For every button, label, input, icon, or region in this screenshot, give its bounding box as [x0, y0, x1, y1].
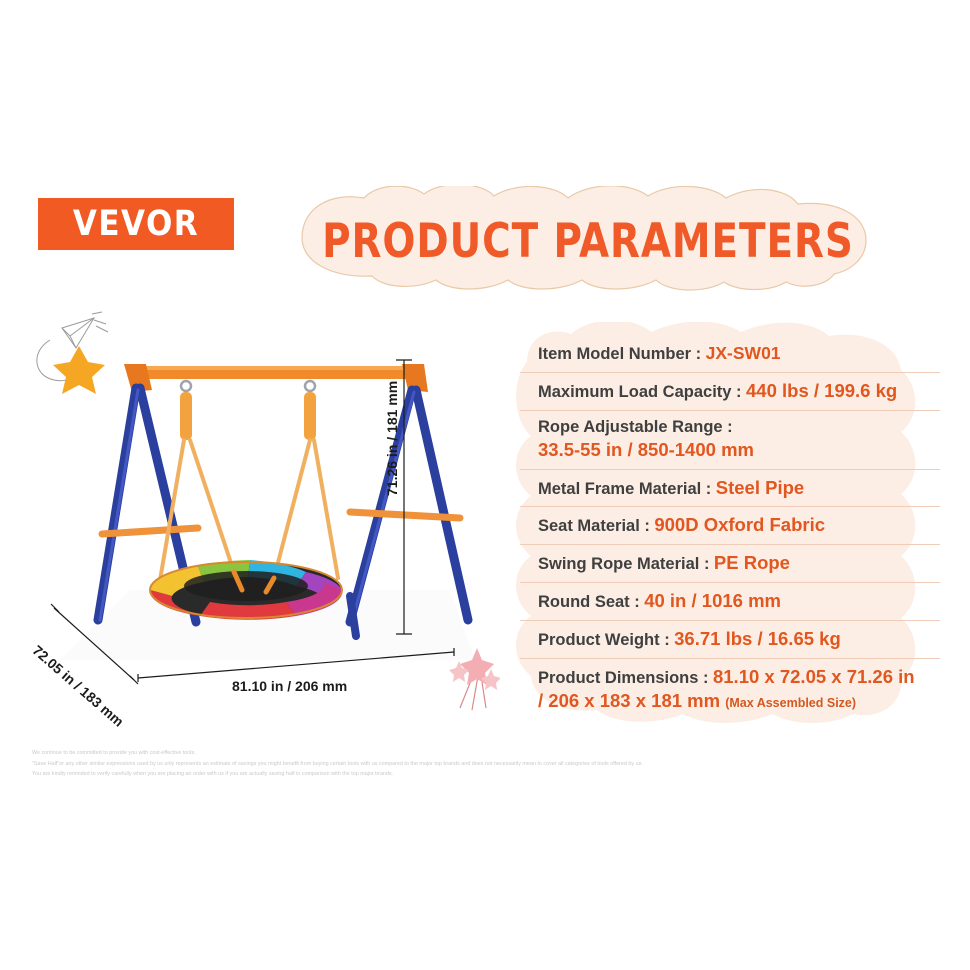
spec-value: Steel Pipe: [716, 477, 804, 498]
spec-row-product-weight: Product Weight : 36.71 lbs / 16.65 kg: [520, 621, 940, 659]
spec-row-round-seat: Round Seat : 40 in / 1016 mm: [520, 583, 940, 621]
spec-value: 440 lbs / 199.6 kg: [746, 380, 897, 401]
spec-label: Product Weight :: [538, 631, 670, 649]
spec-value: JX-SW01: [706, 343, 781, 363]
dimension-height-label: 71.26 in / 181 mm: [384, 381, 400, 496]
vevor-logo: VEVOR: [38, 198, 234, 250]
spec-value-continued: / 206 x 183 x 181 mm (Max Assembled Size…: [538, 689, 940, 713]
spec-label: Rope Adjustable Range :: [538, 417, 940, 439]
disclaimer-line-3: You are kindly reminded to verify carefu…: [32, 769, 842, 780]
spec-list: Item Model Number : JX-SW01 Maximum Load…: [520, 336, 940, 720]
product-parameters-page: PRODUCT PARAMETERS VEVOR: [0, 0, 970, 970]
dimension-width-label: 81.10 in / 206 mm: [232, 678, 347, 694]
spec-row-product-dimensions: Product Dimensions : 81.10 x 72.05 x 71.…: [520, 659, 940, 720]
spec-label: Metal Frame Material :: [538, 480, 711, 498]
spec-row-rope-material: Swing Rope Material : PE Rope: [520, 545, 940, 583]
spec-label: Item Model Number :: [538, 345, 701, 363]
spec-value: 900D Oxford Fabric: [654, 514, 825, 535]
disclaimer: We continue to be committed to provide y…: [32, 748, 842, 780]
spec-note: (Max Assembled Size): [725, 696, 856, 710]
spec-value: 33.5-55 in / 850-1400 mm: [538, 438, 940, 462]
spec-label: Swing Rope Material :: [538, 555, 709, 573]
spec-value: 81.10 x 72.05 x 71.26 in: [713, 666, 915, 687]
spec-label: Round Seat :: [538, 593, 640, 611]
spec-row-model: Item Model Number : JX-SW01: [520, 336, 940, 373]
spec-value: 40 in / 1016 mm: [644, 590, 781, 611]
brand-name: VEVOR: [73, 204, 199, 244]
spec-value-line2: / 206 x 183 x 181 mm: [538, 690, 720, 711]
spec-value: 36.71 lbs / 16.65 kg: [674, 628, 841, 649]
spec-row-seat-material: Seat Material : 900D Oxford Fabric: [520, 507, 940, 545]
spec-label: Maximum Load Capacity :: [538, 383, 742, 401]
star-decor: [53, 346, 105, 394]
spec-row-frame-material: Metal Frame Material : Steel Pipe: [520, 470, 940, 508]
disclaimer-line-2: "Save Half"or any other similar expressi…: [32, 759, 842, 770]
spec-row-rope-range: Rope Adjustable Range : 33.5-55 in / 850…: [520, 411, 940, 470]
spec-value: PE Rope: [714, 552, 790, 573]
page-title: PRODUCT PARAMETERS: [310, 186, 866, 296]
disclaimer-line-1: We continue to be committed to provide y…: [32, 748, 842, 759]
spec-row-load-capacity: Maximum Load Capacity : 440 lbs / 199.6 …: [520, 373, 940, 411]
spec-label: Product Dimensions :: [538, 669, 709, 687]
spec-label: Seat Material :: [538, 517, 650, 535]
swing-hangers: [180, 381, 316, 440]
